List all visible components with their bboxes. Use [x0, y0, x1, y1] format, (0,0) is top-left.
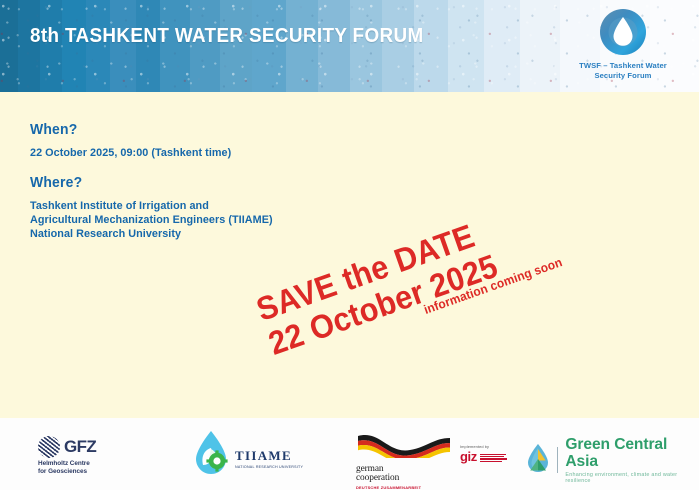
stamp-line-3: information coming soon: [422, 255, 564, 318]
green-central-asia-wordmark: Green Central Asia: [565, 436, 686, 470]
giz-detail-lines: [480, 454, 507, 463]
tiiame-logo: TIIAME NATIONAL RESEARCH UNIVERSITY: [192, 430, 312, 482]
where-line-1: Tashkent Institute of Irrigation and: [30, 199, 273, 213]
green-central-asia-logo: Green Central Asia Enhancing environment…: [526, 436, 686, 476]
when-value: 22 October 2025, 09:00 (Tashkent time): [30, 146, 231, 160]
giz-row: giz: [460, 451, 507, 463]
tiiame-wordmark: TIIAME: [235, 448, 303, 464]
footer-logo-bar: GFZ Helmholtz Centre for Geosciences: [0, 418, 699, 490]
tiiame-text-block: TIIAME NATIONAL RESEARCH UNIVERSITY: [235, 442, 303, 469]
page-title: 8th TASHKENT WATER SECURITY FORUM: [30, 24, 424, 48]
tiiame-subtitle: NATIONAL RESEARCH UNIVERSITY: [235, 465, 303, 469]
giz-wordmark: giz: [460, 451, 477, 463]
main-content: When? 22 October 2025, 09:00 (Tashkent t…: [0, 92, 699, 418]
giz-logo: Implemented by giz: [460, 444, 507, 463]
german-cooperation-left: german cooperation DEUTSCHE ZUSAMMENARBE…: [356, 432, 452, 490]
stamp-line-2: 22 October 2025: [264, 248, 502, 362]
green-central-asia-row: Green Central Asia Enhancing environment…: [526, 436, 686, 484]
green-central-asia-divider: [557, 447, 558, 473]
gfz-subtitle-line2: for Geosciences: [38, 468, 128, 476]
twsf-caption-line1: TWSF – Tashkent Water: [569, 61, 677, 71]
german-cooperation-word-line2: cooperation: [356, 474, 452, 483]
gfz-globe-icon: [38, 436, 60, 458]
tiiame-droplet-leaf-icon: [192, 430, 230, 481]
header-banner: 8th TASHKENT WATER SECURITY FORUM: [0, 0, 699, 92]
where-line-3: National Research University: [30, 227, 273, 241]
german-cooperation-wordmark: german cooperation: [356, 465, 452, 484]
poster-canvas: 8th TASHKENT WATER SECURITY FORUM: [0, 0, 699, 490]
gfz-subtitle-line1: Helmholtz Centre: [38, 460, 128, 468]
save-the-date-stamp: SAVE the DATE 22 October 2025 informatio…: [252, 208, 519, 362]
german-cooperation-logo: german cooperation DEUTSCHE ZUSAMMENARBE…: [356, 432, 516, 482]
gfz-wordmark: GFZ: [64, 437, 96, 457]
twsf-logo-caption: TWSF – Tashkent Water Security Forum: [569, 61, 677, 80]
gfz-subtitle: Helmholtz Centre for Geosciences: [38, 460, 128, 475]
green-central-asia-text-block: Green Central Asia Enhancing environment…: [565, 436, 686, 484]
german-flag-ribbon-icon: [356, 432, 452, 463]
where-value: Tashkent Institute of Irrigation and Agr…: [30, 199, 273, 241]
where-line-2: Agricultural Mechanization Engineers (TI…: [30, 213, 273, 227]
gfz-logo-row: GFZ: [38, 436, 128, 458]
tiiame-logo-row: TIIAME NATIONAL RESEARCH UNIVERSITY: [192, 430, 312, 481]
green-central-asia-leaf-icon: [526, 443, 550, 478]
twsf-caption-line2: Security Forum: [569, 71, 677, 81]
stamp-line-1: SAVE the DATE: [252, 214, 490, 328]
when-heading: When?: [30, 121, 77, 138]
twsf-water-drop-ring-icon: [597, 6, 649, 58]
twsf-logo: TWSF – Tashkent Water Security Forum: [569, 6, 677, 88]
german-cooperation-subtitle: DEUTSCHE ZUSAMMENARBEIT: [356, 485, 452, 490]
where-heading: Where?: [30, 174, 82, 191]
gfz-logo: GFZ Helmholtz Centre for Geosciences: [38, 436, 128, 478]
green-central-asia-tagline: Enhancing environment, climate and water…: [565, 472, 686, 484]
